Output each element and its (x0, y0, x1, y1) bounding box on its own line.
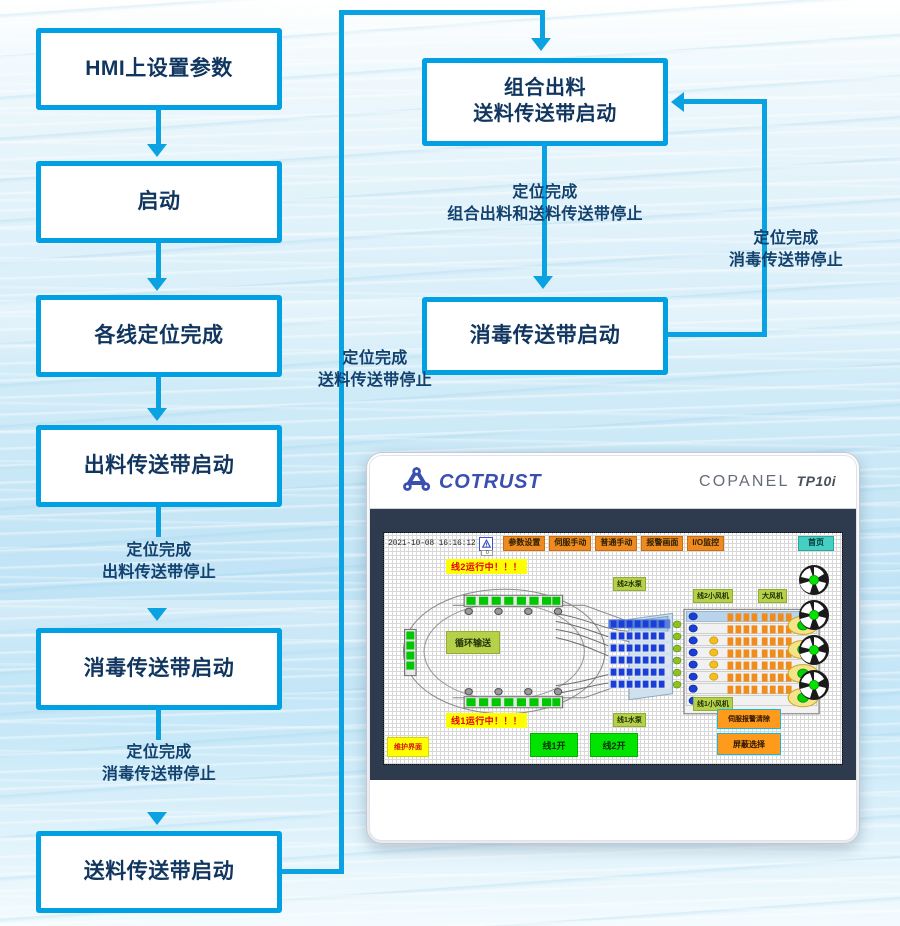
alarm-count: 0 (481, 550, 493, 556)
arrow-into-n7-left (671, 92, 684, 112)
connector-n8-up (762, 99, 767, 337)
alarm-triangle-icon[interactable]: 0 (479, 537, 493, 551)
connector-n1-n2 (156, 110, 161, 147)
connector-n6-right (282, 869, 344, 874)
connector-n2-n3 (156, 243, 161, 281)
connector-n3-n4 (156, 377, 161, 411)
hmi-tag-line2-small-fan: 线2小风机 (693, 589, 733, 603)
edge-label-discharge-stop: 定位完成 出料传送带停止 (36, 540, 282, 583)
hmi-status-bar: 2021-10-08 16:16:12 0 参数设置 伺服手动 普通手动 报警画 (386, 535, 840, 552)
connector-n8-right (668, 332, 767, 337)
flow-node-combined-discharge-feed-start[interactable]: 组合出料 送料传送带启动 (422, 58, 668, 146)
device-bottom-bezel (370, 780, 856, 840)
hmi-nav-io-monitor[interactable]: I/O监控 (687, 536, 724, 551)
hmi-banner-line2-running: 线2运行中！！！ (446, 559, 527, 574)
arrow-n3-n4 (147, 408, 167, 421)
connector-n4-n5 (156, 507, 161, 537)
flow-node-hmi-set-params[interactable]: HMI上设置参数 (36, 28, 282, 110)
device-screen-bezel: 2021-10-08 16:16:12 0 参数设置 伺服手动 普通手动 报警画 (370, 509, 856, 782)
arrow-n1-n2 (147, 144, 167, 157)
big-fan-column (794, 563, 834, 703)
edge-label-feed-stop: 定位完成 送料传送带停止 (280, 348, 470, 391)
connector-down-into-n7 (540, 10, 545, 40)
hmi-button-maintenance[interactable]: 维护界面 (387, 737, 429, 757)
flow-node-start[interactable]: 启动 (36, 161, 282, 243)
arrow-n5-n6 (147, 812, 167, 825)
hmi-device-body: COTRUST COPANEL TP10i 2021-10-08 16:16:1… (369, 455, 857, 841)
connector-n6-up (339, 10, 344, 871)
hmi-tag-line2-pump: 线2水泵 (613, 577, 646, 591)
connector-into-n7-right (684, 99, 764, 104)
arrow-into-n7 (531, 38, 551, 51)
hmi-datetime: 2021-10-08 16:16:12 (386, 539, 475, 548)
model-family: COPANEL (699, 473, 790, 491)
hmi-button-line1-on[interactable]: 线1开 (530, 733, 578, 757)
hmi-device: COTRUST COPANEL TP10i 2021-10-08 16:16:1… (366, 452, 860, 844)
hmi-screen[interactable]: 2021-10-08 16:16:12 0 参数设置 伺服手动 普通手动 报警画 (384, 533, 842, 764)
hmi-nav-alarm-screen[interactable]: 报警画面 (641, 536, 683, 551)
hmi-nav-home[interactable]: 首页 (798, 536, 834, 551)
cotrust-gear-logo-icon (402, 467, 432, 498)
arrow-n2-n3 (147, 278, 167, 291)
hmi-label-loop-conveyor: 循环输送 (446, 631, 500, 654)
brand-name: COTRUST (439, 471, 541, 494)
device-header: COTRUST COPANEL TP10i (370, 456, 856, 509)
hmi-tag-big-fan: 大风机 (758, 589, 787, 603)
arrow-n7-n8 (533, 276, 553, 289)
hmi-nav-general-manual[interactable]: 普通手动 (595, 536, 637, 551)
flow-node-sterilize-conveyor-start[interactable]: 消毒传送带启动 (36, 628, 282, 710)
hmi-nav-param-settings[interactable]: 参数设置 (503, 536, 545, 551)
hmi-banner-line1-running: 线1运行中！！！ (446, 713, 527, 728)
hmi-tag-line1-pump: 线1水泵 (613, 713, 646, 727)
arrow-n4-n5 (147, 608, 167, 621)
hmi-button-mask-select[interactable]: 屏蔽选择 (717, 733, 781, 755)
hmi-button-line2-on[interactable]: 线2开 (590, 733, 638, 757)
brand-block: COTRUST (402, 467, 541, 498)
model-number: TP10i (797, 473, 836, 489)
edge-label-sterilize-stop: 定位完成 消毒传送带停止 (36, 742, 282, 785)
hmi-nav-servo-manual[interactable]: 伺服手动 (549, 536, 591, 551)
flow-node-feed-conveyor-start[interactable]: 送料传送带启动 (36, 831, 282, 913)
flow-node-discharge-conveyor-start[interactable]: 出料传送带启动 (36, 425, 282, 507)
model-block: COPANEL TP10i (699, 473, 836, 491)
flow-node-lines-positioned[interactable]: 各线定位完成 (36, 295, 282, 377)
hmi-button-servo-alarm-reset[interactable]: 伺服报警清除 (717, 709, 781, 729)
connector-n5-n6 (156, 710, 161, 740)
edge-label-combined-stop: 定位完成 组合出料和送料传送带停止 (402, 182, 688, 225)
edge-label-sterilize-stop-right: 定位完成 消毒传送带停止 (688, 228, 884, 271)
connector-top-to-n7 (339, 10, 545, 15)
